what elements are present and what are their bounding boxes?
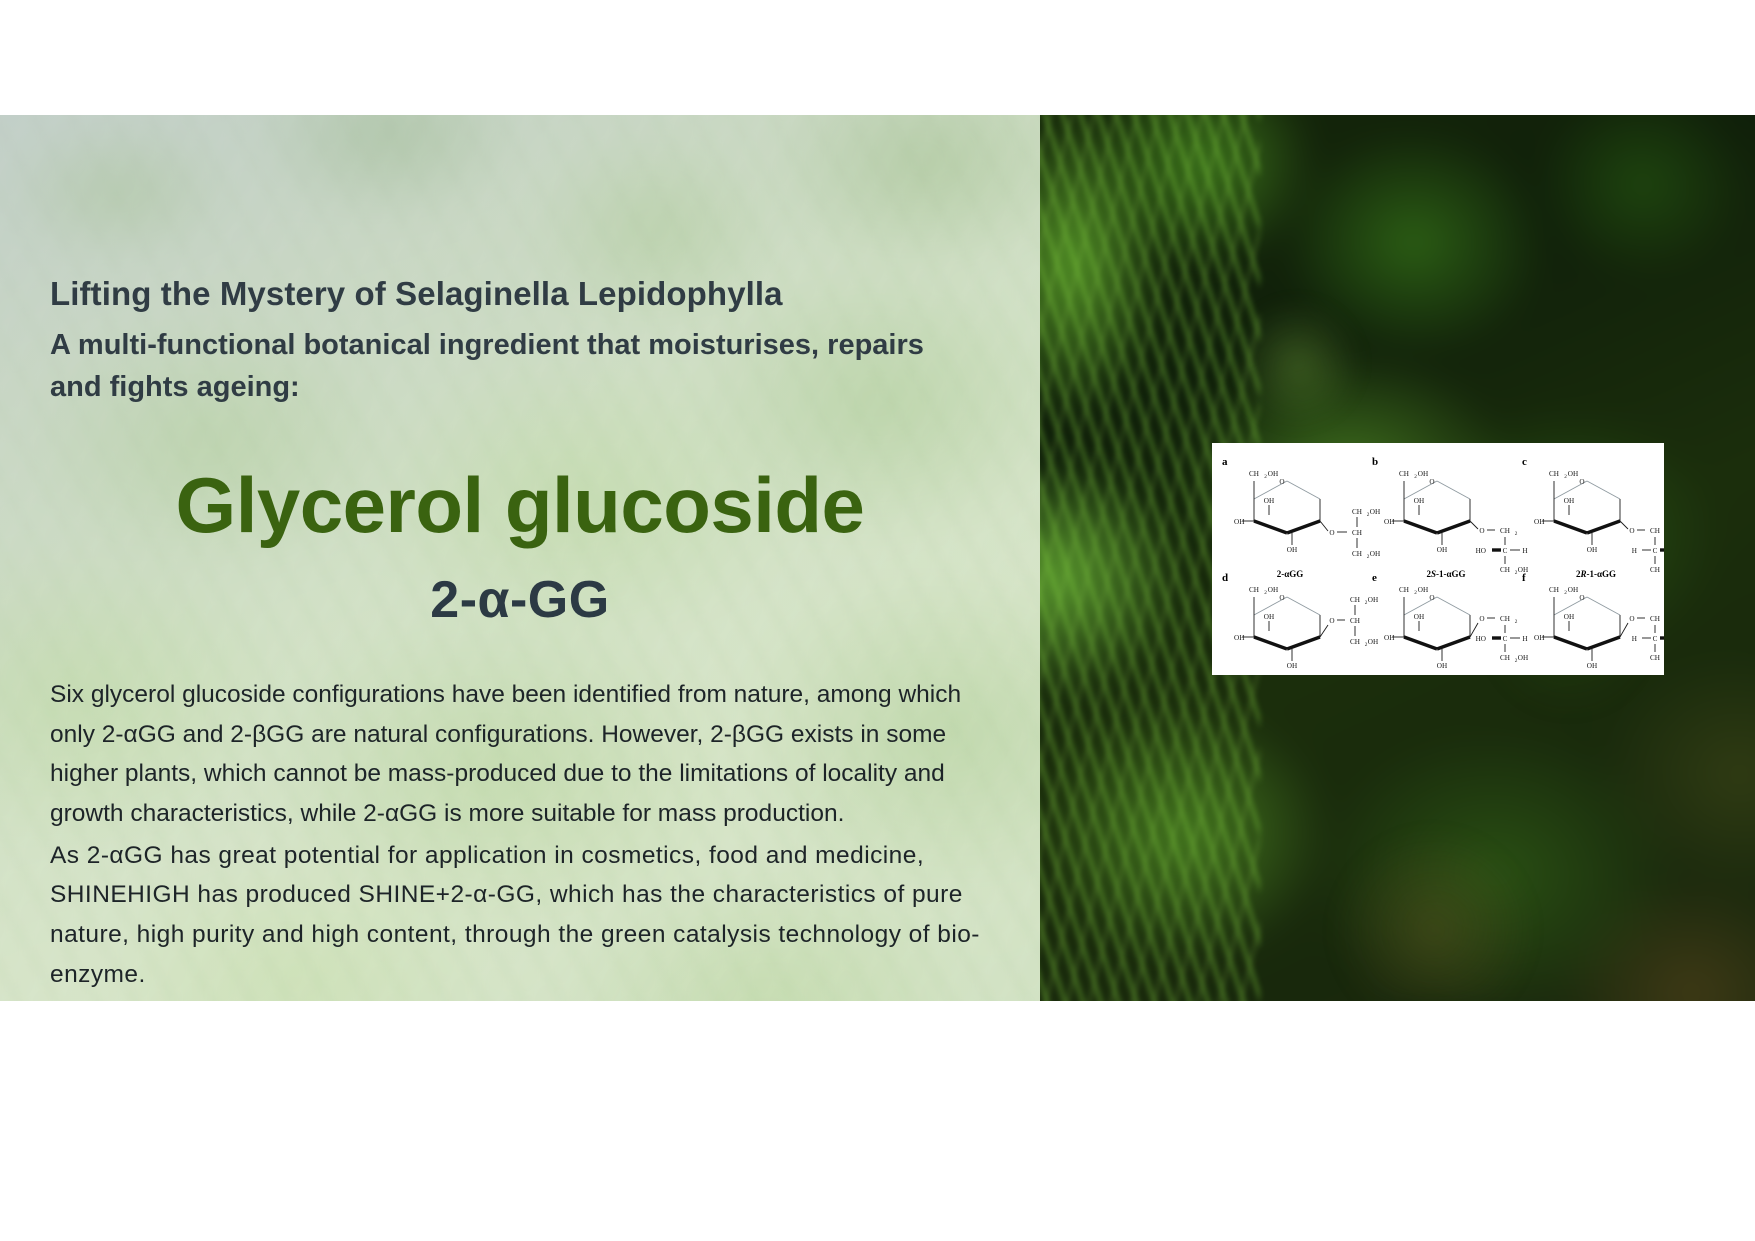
svg-text:OH: OH [1368, 638, 1378, 646]
svg-text:b: b [1372, 456, 1378, 468]
svg-text:OH: OH [1370, 508, 1380, 516]
svg-text:CH: CH [1350, 617, 1360, 625]
svg-text:a: a [1222, 456, 1228, 468]
svg-text:CH: CH [1352, 529, 1362, 537]
svg-text:C: C [1653, 635, 1658, 643]
svg-text:2: 2 [1515, 531, 1518, 537]
svg-text:e: e [1372, 572, 1377, 584]
svg-text:f: f [1522, 572, 1526, 584]
caption-c: 2R-1-αGG [1576, 569, 1616, 579]
chemical-structures-figure: O CH 2 OH OH OH OH [1212, 443, 1664, 675]
svg-text:O: O [1479, 527, 1484, 535]
svg-text:CH: CH [1500, 615, 1510, 623]
svg-text:OH: OH [1518, 654, 1528, 662]
body-copy: Six glycerol glucoside configurations ha… [50, 675, 995, 995]
svg-text:HO: HO [1476, 635, 1486, 643]
svg-text:O: O [1629, 527, 1634, 535]
svg-text:O: O [1329, 529, 1334, 537]
svg-text:C: C [1503, 547, 1508, 555]
svg-text:CH: CH [1352, 550, 1362, 558]
svg-text:C: C [1653, 547, 1658, 555]
left-content-panel: Lifting the Mystery of Selaginella Lepid… [0, 115, 1040, 1001]
svg-text:H: H [1522, 547, 1527, 555]
svg-text:c: c [1522, 456, 1527, 468]
caption-b: 2S-1-αGG [1426, 569, 1465, 579]
svg-text:OH: OH [1370, 550, 1380, 558]
svg-text:d: d [1222, 572, 1228, 584]
page-headline: Lifting the Mystery of Selaginella Lepid… [50, 273, 1000, 315]
product-subtitle: 2-α-GG [50, 570, 990, 630]
svg-text:O: O [1479, 615, 1484, 623]
product-title: Glycerol glucoside [50, 465, 990, 547]
right-image-panel: O CH 2 OH OH OH OH [1040, 115, 1755, 1001]
caption-a: 2-αGG [1277, 569, 1304, 579]
svg-text:CH: CH [1350, 596, 1360, 604]
svg-text:CH: CH [1500, 654, 1510, 662]
svg-text:O: O [1629, 615, 1634, 623]
body-paragraph-1: Six glycerol glucoside configurations ha… [50, 675, 995, 834]
poster-page: Lifting the Mystery of Selaginella Lepid… [0, 0, 1755, 1241]
svg-text:CH: CH [1650, 527, 1660, 535]
svg-text:C: C [1503, 635, 1508, 643]
svg-text:H: H [1632, 635, 1637, 643]
content-band: Lifting the Mystery of Selaginella Lepid… [0, 115, 1755, 1001]
page-subheadline: A multi-functional botanical ingredient … [50, 325, 980, 409]
svg-text:O: O [1329, 617, 1334, 625]
svg-text:CH: CH [1350, 638, 1360, 646]
svg-text:CH: CH [1650, 566, 1660, 574]
svg-text:H: H [1632, 547, 1637, 555]
svg-text:CH: CH [1650, 654, 1660, 662]
svg-text:OH: OH [1368, 596, 1378, 604]
chemical-structures-svg: O CH 2 OH OH OH OH [1212, 443, 1664, 675]
svg-text:CH: CH [1650, 615, 1660, 623]
svg-text:H: H [1522, 635, 1527, 643]
svg-text:2: 2 [1515, 619, 1518, 625]
body-paragraph-2: As 2-αGG has great potential for applica… [50, 836, 995, 995]
svg-text:CH: CH [1500, 566, 1510, 574]
svg-text:CH: CH [1500, 527, 1510, 535]
svg-text:HO: HO [1476, 547, 1486, 555]
svg-text:CH: CH [1352, 508, 1362, 516]
